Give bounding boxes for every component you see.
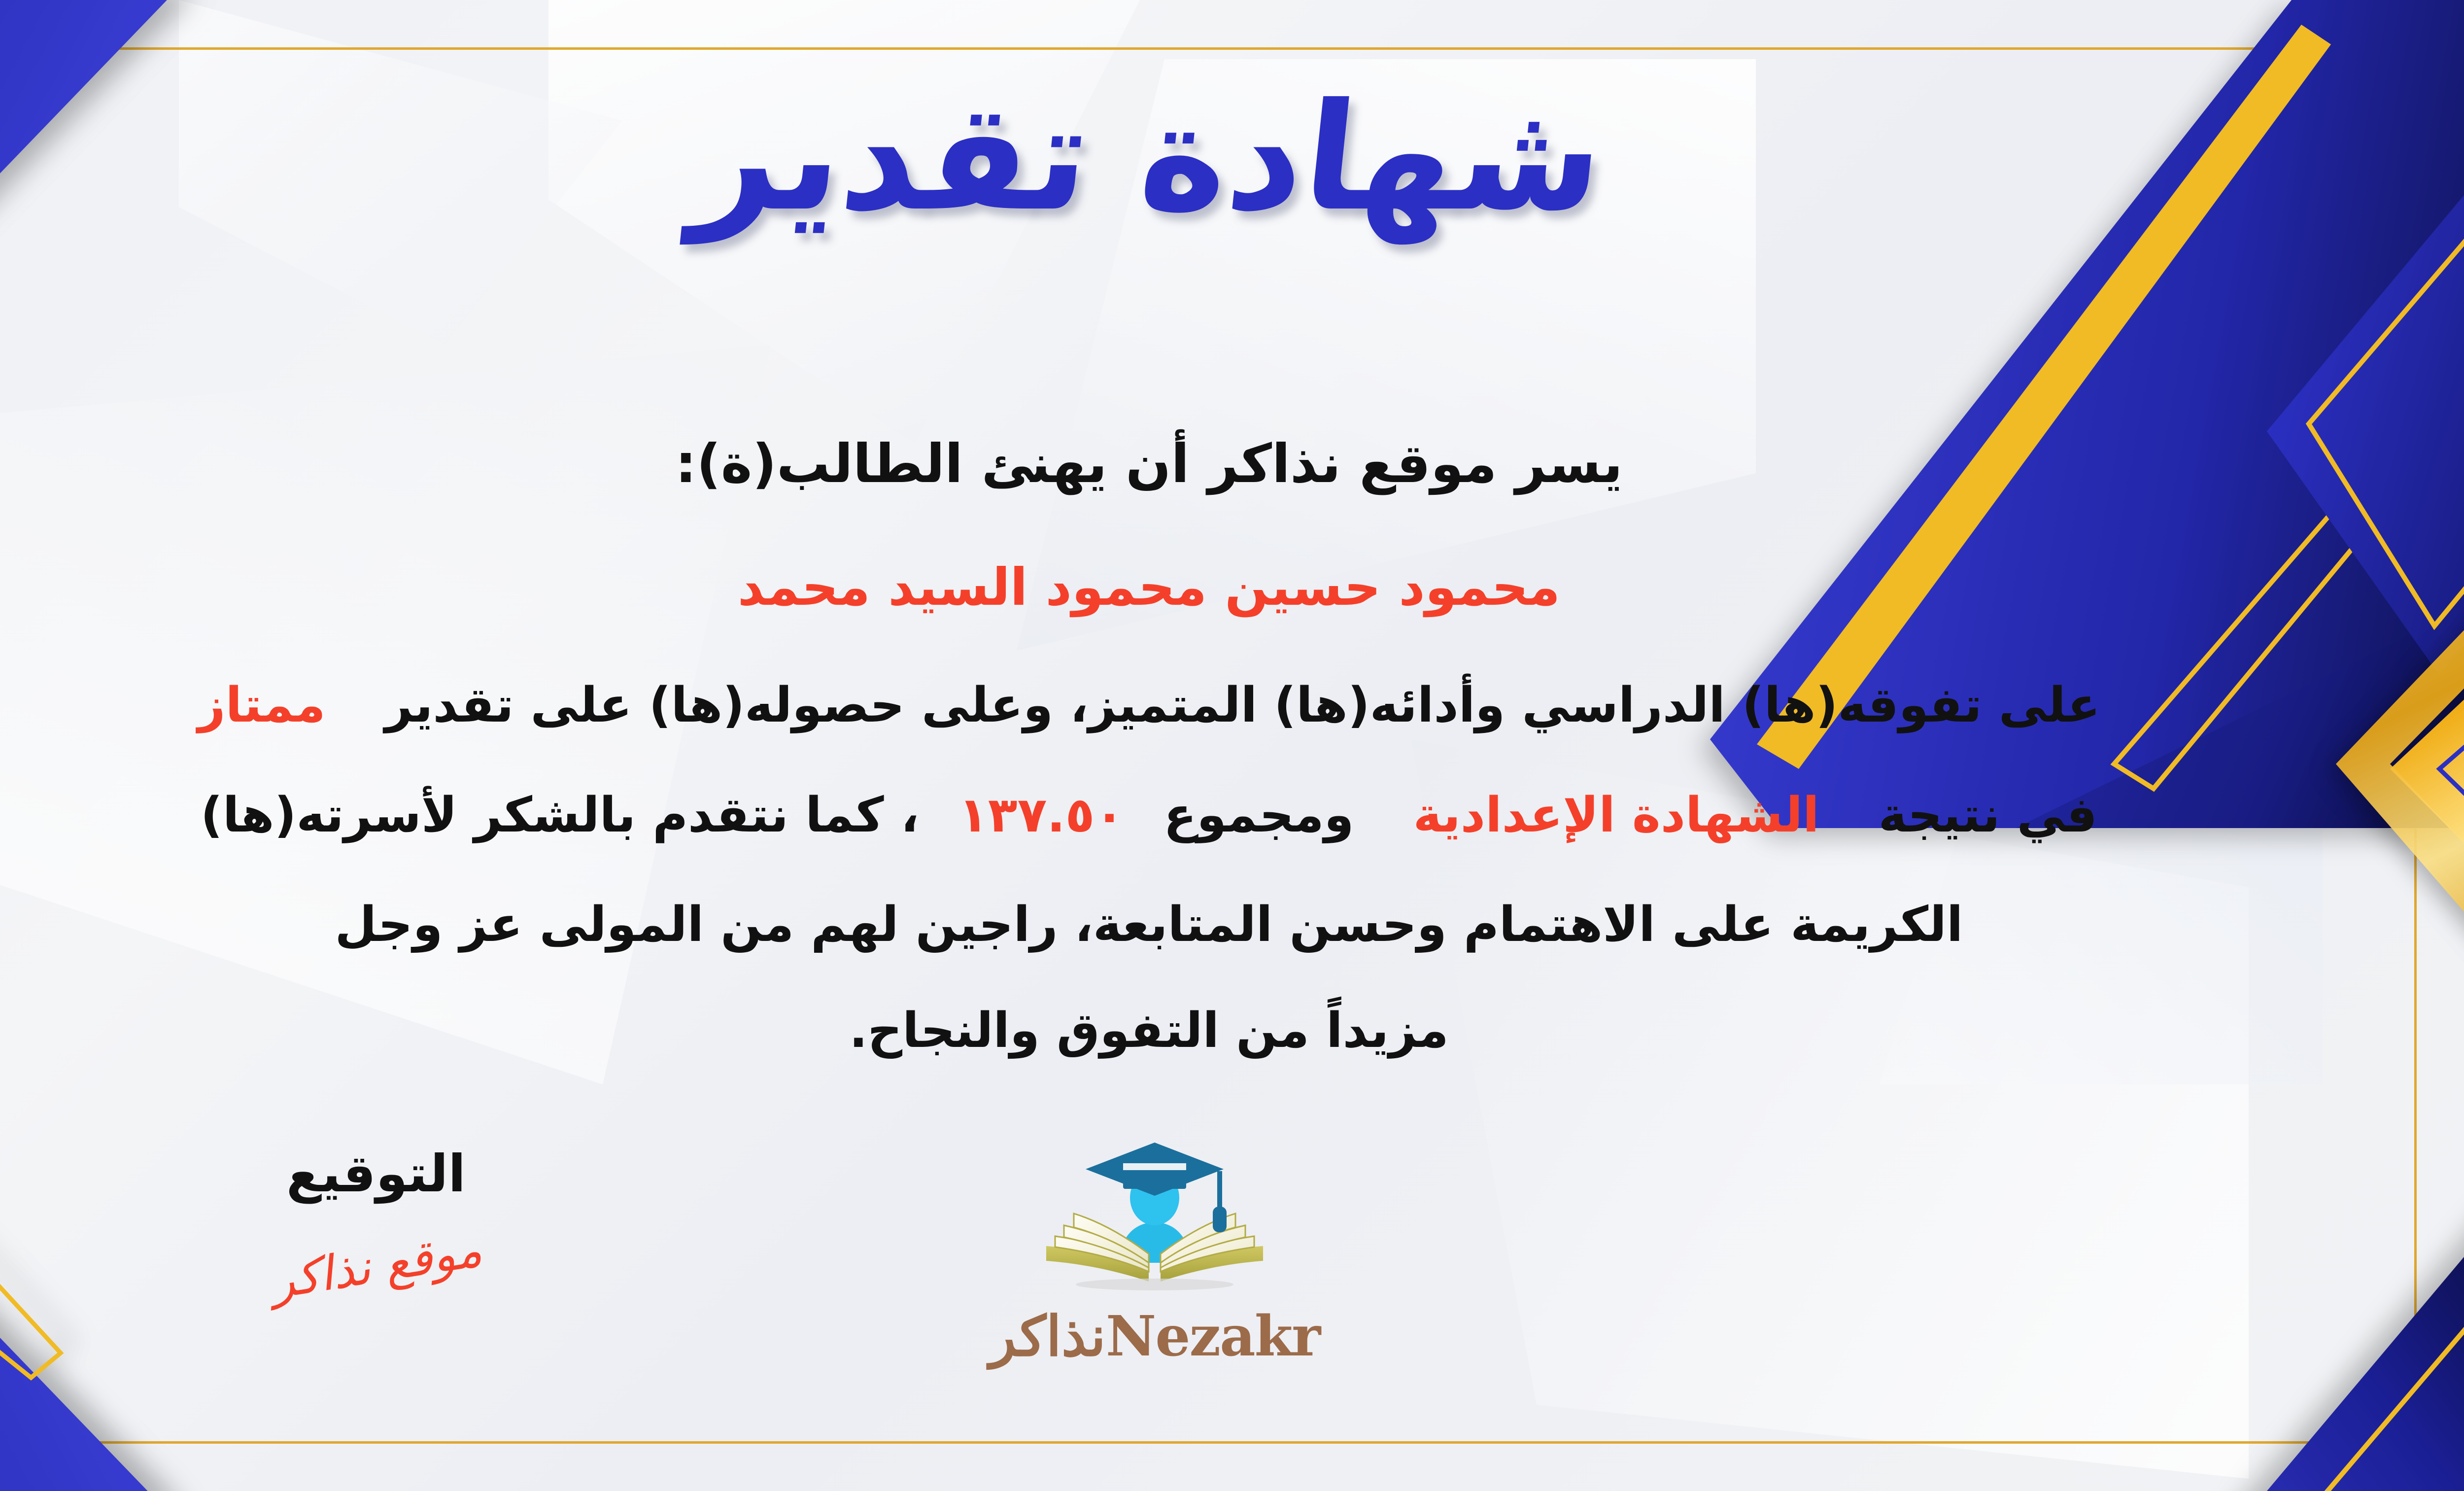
certificate-name: الشهادة الإعدادية — [1413, 788, 1819, 843]
family-thanks-line: الكريمة على الاهتمام وحسن المتابعة، راجي… — [0, 897, 2464, 953]
closing-line: مزيداً من التفوق والنجاح. — [0, 1003, 2464, 1059]
site-logo: Nezakrنذاكر — [967, 1134, 1342, 1369]
page-title: شهادة تقدير — [0, 84, 2464, 232]
intro-line: يسر موقع نذاكر أن يهنئ الطالب(ة): — [0, 434, 2464, 495]
logo-name-latin: Nezakr — [1106, 1304, 1320, 1369]
thanks-text: ، كما نتقدم بالشكر لأسرته(ها) — [201, 788, 919, 843]
in-result-label: في نتيجة — [1879, 788, 2097, 843]
graduate-book-logo-icon — [1027, 1134, 1283, 1301]
grade-value: ممتاز — [198, 678, 326, 733]
certificate-line: في نتيجة الشهادة الإعدادية ومجموع ١٣٧.٥٠… — [0, 788, 2464, 843]
total-label: ومجموع — [1164, 788, 1354, 843]
logo-wordmark: Nezakrنذاكر — [967, 1304, 1342, 1369]
signature-label: التوقيع — [179, 1144, 573, 1204]
logo-name-arabic: نذاكر — [990, 1304, 1106, 1369]
achievement-line: على تفوقه(ها) الدراسي وأدائه(ها) المتميز… — [0, 678, 2464, 733]
student-name: محمود حسين محمود السيد محمد — [0, 557, 2464, 617]
signature-block: التوقيع موقع نذاكر — [179, 1144, 573, 1293]
certificate-canvas: شهادة تقدير يسر موقع نذاكر أن يهنئ الطال… — [0, 0, 2464, 1491]
achievement-text: على تفوقه(ها) الدراسي وأدائه(ها) المتميز… — [385, 678, 2100, 733]
total-score-value: ١٣٧.٥٠ — [958, 788, 1124, 843]
